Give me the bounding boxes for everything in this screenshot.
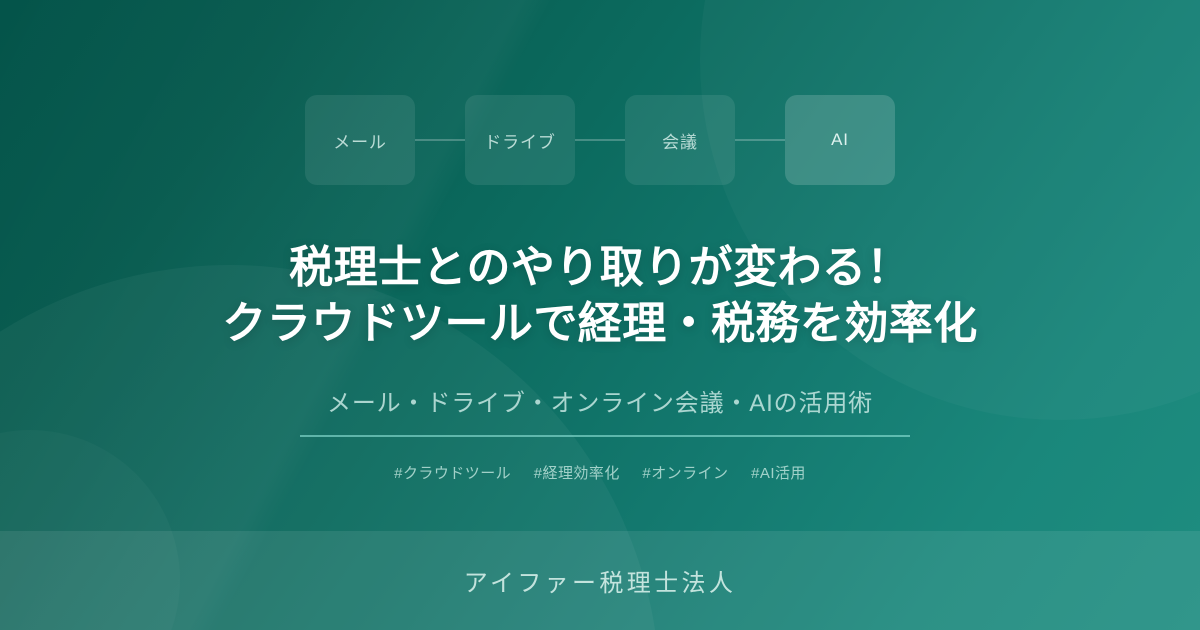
tag-item-2: #経理効率化 (534, 465, 620, 482)
page-subtitle: メール・ドライブ・オンライン会議・AIの活用術 (0, 383, 1200, 418)
footer-band: アイファー税理士法人 (0, 531, 1200, 630)
page-title-line-1: 税理士とのやり取りが変わる！ (0, 240, 1200, 296)
tool-card-drive: ドライブ (465, 95, 575, 185)
tool-card-meeting-label: 会議 (662, 128, 698, 153)
page-title-line-2: クラウドツールで経理・税務を効率化 (0, 296, 1200, 352)
tool-card-meeting: 会議 (625, 95, 735, 185)
tool-card-ai-label: AI (831, 130, 849, 150)
tool-card-mail: メール (305, 95, 415, 185)
tool-flow-row: メール ドライブ 会議 AI (0, 95, 1200, 185)
tag-item-4: #AI活用 (751, 465, 806, 482)
tag-item-3: #オンライン (642, 465, 728, 482)
tool-card-mail-label: メール (333, 128, 387, 153)
decorative-circle-right (700, 0, 1200, 420)
hero-banner: メール ドライブ 会議 AI 税理士とのやり取りが変わる！ クラウドツールで経理… (0, 0, 1200, 630)
tool-connector-1 (415, 139, 465, 141)
tool-card-ai: AI (785, 95, 895, 185)
tool-connector-3 (735, 139, 785, 141)
page-title: 税理士とのやり取りが変わる！ クラウドツールで経理・税務を効率化 (0, 240, 1200, 353)
company-name: アイファー税理士法人 (464, 563, 736, 598)
tag-item-1: #クラウドツール (394, 465, 511, 482)
tool-connector-2 (575, 139, 625, 141)
tool-card-drive-label: ドライブ (484, 128, 555, 153)
divider (300, 435, 910, 437)
tag-row: #クラウドツール #経理効率化 #オンライン #AI活用 (0, 462, 1200, 483)
